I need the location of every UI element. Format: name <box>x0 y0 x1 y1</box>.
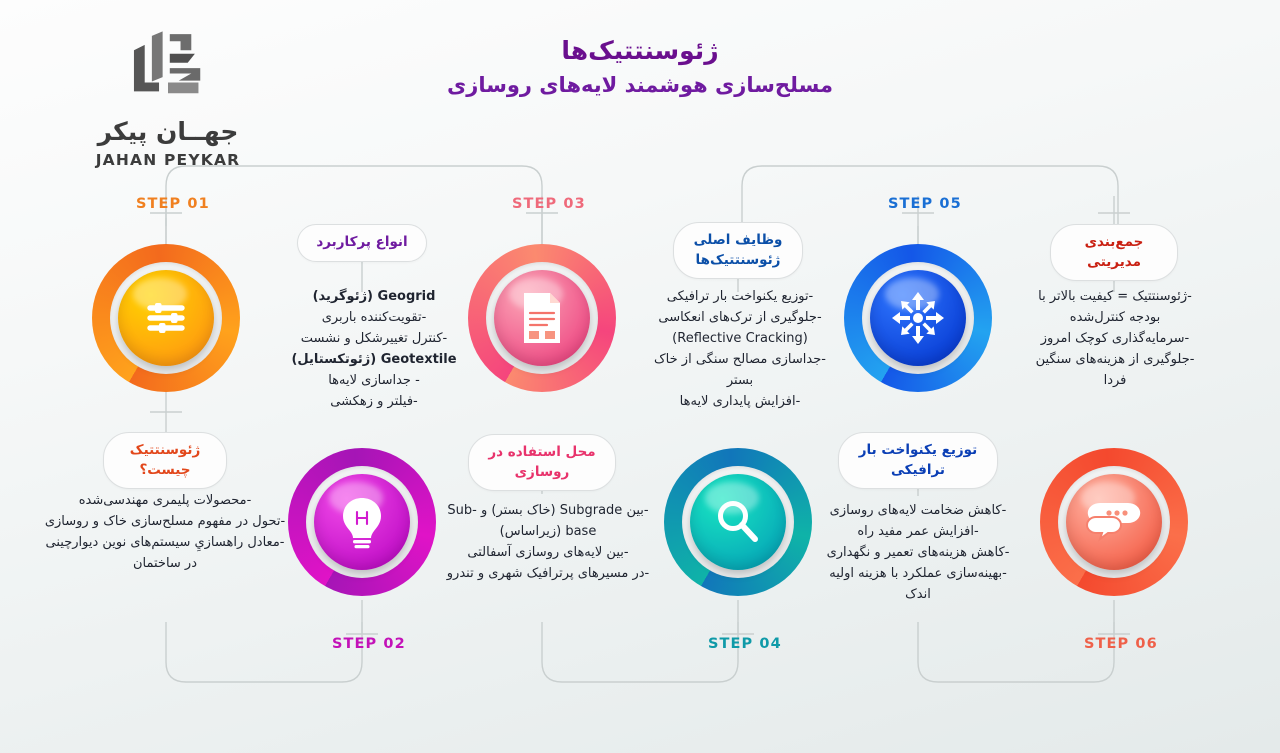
step-ring-04 <box>664 448 812 596</box>
sliders-settings-icon <box>140 292 192 344</box>
body-text-01: -محصولات پلیمری مهندسی‌شده-تحول در مفهوم… <box>40 490 290 574</box>
pill-title-02[interactable]: انواع پرکاربرد <box>297 224 427 262</box>
step-node-03[interactable] <box>468 244 616 392</box>
body-text-05: -کاهش ضخامت لایه‌های روسازی-افزایش عمر م… <box>826 500 1010 605</box>
step-node-01[interactable] <box>92 244 240 392</box>
step-ring-05 <box>844 244 992 392</box>
step-ring-03 <box>468 244 616 392</box>
step-label-04: STEP 04 <box>708 636 782 652</box>
step-ring-02 <box>288 448 436 596</box>
brand-name-en: JAHAN PEYKAR <box>78 151 258 169</box>
step-ring-01 <box>92 244 240 392</box>
step-node-06[interactable] <box>1040 448 1188 596</box>
pill-title-06[interactable]: جمع‌بندی مدیریتی <box>1050 224 1178 281</box>
lightbulb-icon <box>337 495 387 549</box>
step-core-02 <box>314 474 410 570</box>
distribute-arrows-icon <box>890 290 946 346</box>
pill-title-03[interactable]: محل استفاده در روسازی <box>468 434 616 491</box>
step-core-06 <box>1066 474 1162 570</box>
document-icon <box>519 291 565 345</box>
chat-bubbles-icon <box>1086 499 1142 545</box>
step-label-02: STEP 02 <box>332 636 406 652</box>
page-header: ژئوسنتتیک‌ها مسلح‌سازی هوشمند لایه‌های ر… <box>0 34 1280 99</box>
step-label-01: STEP 01 <box>136 196 210 212</box>
step-label-06: STEP 06 <box>1084 636 1158 652</box>
step-ring-06 <box>1040 448 1188 596</box>
step-core-01 <box>118 270 214 366</box>
body-text-04: -توزیع یکنواخت بار ترافیکی-جلوگیری از تر… <box>648 286 832 412</box>
body-text-02: Geogrid (ژئوگرید)-تقویت‌کننده باربری-کنت… <box>276 286 472 412</box>
step-node-04[interactable] <box>664 448 812 596</box>
step-label-05: STEP 05 <box>888 196 962 212</box>
body-text-06: -ژئوسنتتیک = کیفیت بالاتر با بودجه کنترل… <box>1026 286 1204 391</box>
step-core-05 <box>870 270 966 366</box>
step-node-02[interactable] <box>288 448 436 596</box>
step-core-03 <box>494 270 590 366</box>
page-title: ژئوسنتتیک‌ها <box>0 34 1280 68</box>
step-core-04 <box>690 474 786 570</box>
pill-title-01[interactable]: ژئوسنتتیکچیست؟ <box>103 432 227 489</box>
pill-title-05[interactable]: توزیع یکنواخت بارترافیکی <box>838 432 998 489</box>
body-text-03: -بین Subgrade (خاک بستر) و Sub-base (زیر… <box>442 500 654 584</box>
step-label-03: STEP 03 <box>512 196 586 212</box>
magnifier-search-icon <box>712 496 764 548</box>
step-node-05[interactable] <box>844 244 992 392</box>
page-subtitle: مسلح‌سازی هوشمند لایه‌های روسازی <box>0 71 1280 99</box>
brand-name-fa: جهــان پیکر <box>78 118 258 146</box>
pill-title-04[interactable]: وظایف اصلیژئوسنتتیک‌ها <box>673 222 803 279</box>
